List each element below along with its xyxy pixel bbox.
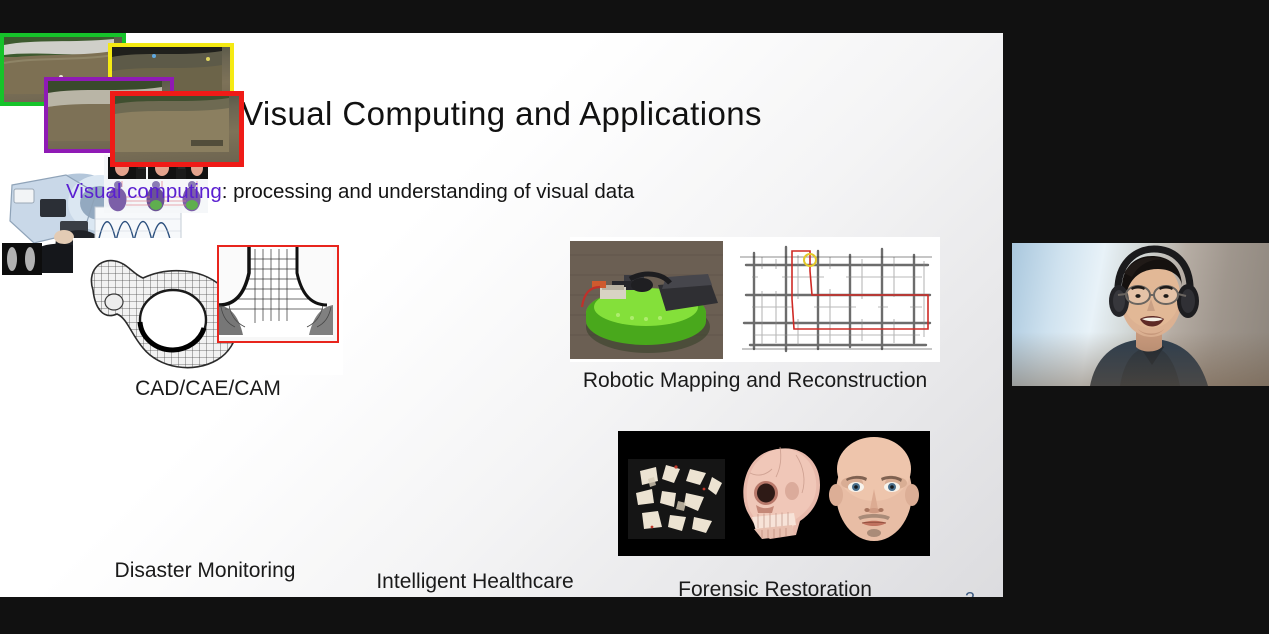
subtitle-highlight: Visual computing bbox=[66, 180, 222, 203]
webcam-vignette bbox=[1012, 332, 1269, 386]
occupancy-grid-map bbox=[732, 237, 940, 362]
figure-forensic-restoration bbox=[618, 431, 930, 556]
caption-forensic-restoration: Forensic Restoration bbox=[610, 578, 940, 597]
screen-share-view: Visual Computing and Applications Visual… bbox=[0, 0, 1269, 634]
cad-zoom-inset bbox=[217, 245, 339, 343]
presentation-slide: Visual Computing and Applications Visual… bbox=[0, 33, 1003, 597]
figure-disaster-monitoring bbox=[0, 33, 240, 155]
figure-robotic-mapping bbox=[570, 237, 940, 362]
flood-scene-red bbox=[115, 96, 229, 152]
caption-robotic-mapping: Robotic Mapping and Reconstruction bbox=[560, 369, 950, 393]
caption-intelligent-healthcare: Intelligent Healthcare bbox=[350, 570, 600, 594]
mobile-robot-illustration bbox=[570, 241, 723, 359]
caption-cad: CAD/CAE/CAM bbox=[73, 377, 343, 401]
subtitle-rest: : processing and understanding of visual… bbox=[222, 180, 635, 203]
slam-occupancy-map bbox=[732, 237, 940, 362]
forensic-illustration bbox=[618, 431, 930, 556]
cad-inset-mesh bbox=[219, 247, 333, 337]
slide-subtitle: Visual computing: processing and underst… bbox=[66, 180, 634, 204]
flood-frame-red bbox=[110, 91, 244, 167]
figure-cad bbox=[73, 238, 343, 375]
robot-photo bbox=[570, 241, 723, 359]
caption-disaster-monitoring: Disaster Monitoring bbox=[60, 559, 350, 583]
presenter-webcam-tile[interactable] bbox=[1012, 243, 1269, 386]
slide-number: 3 bbox=[955, 589, 985, 597]
